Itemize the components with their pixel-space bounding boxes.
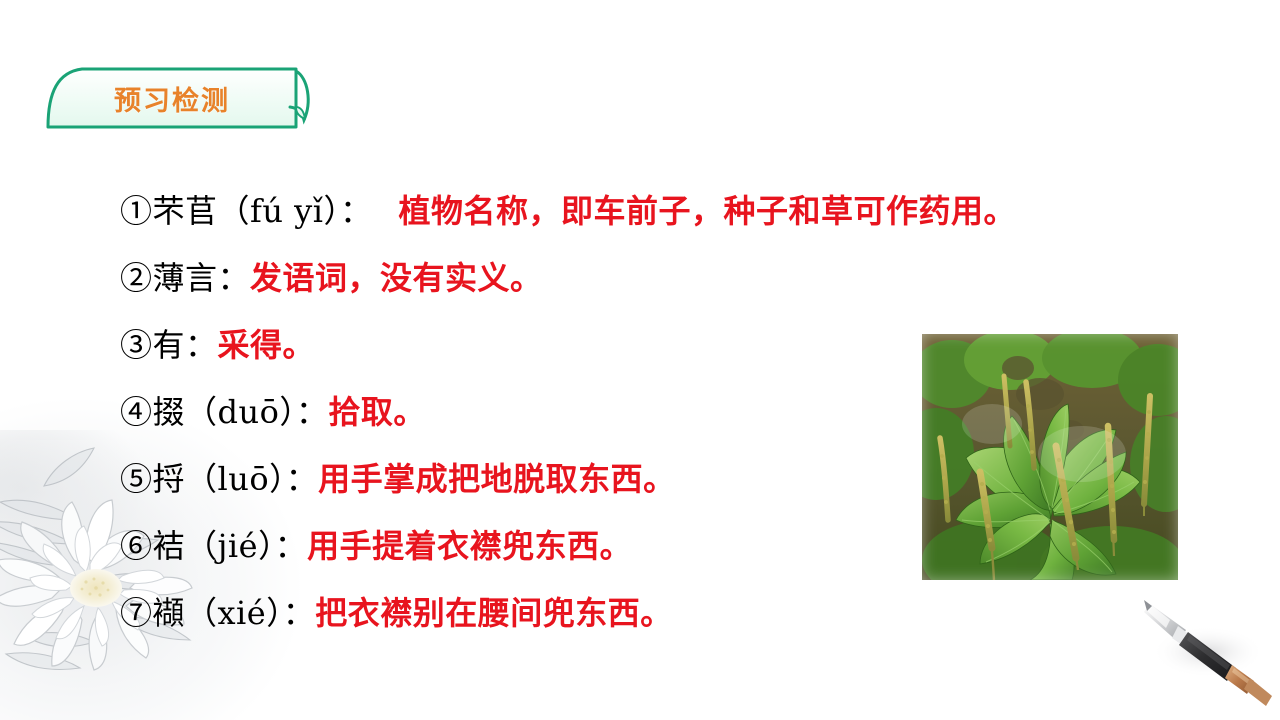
plant-photo-frame [922, 334, 1178, 580]
note-gloss-4: 拾取。 [328, 387, 426, 433]
note-gloss-5: 用手掌成把地脱取东西。 [318, 454, 676, 500]
section-title-text: 预习检测 [46, 66, 298, 130]
note-item-1: ①芣苢（fú yǐ）： 植物名称，即车前子，种子和草可作药用。 [120, 186, 1130, 253]
slide-canvas: 预习检测 ①芣苢（fú yǐ）： 植物名称，即车前子，种子和草可作药用。 ②薄言… [0, 0, 1280, 720]
note-gloss-3: 采得。 [218, 320, 316, 366]
note-term-3: ③有： [120, 320, 218, 366]
note-item-2: ②薄言： 发语词，没有实义。 [120, 253, 1130, 320]
note-term-4: ④掇（duō）： [120, 387, 328, 433]
section-title-banner: 预习检测 [46, 66, 318, 130]
note-term-6: ⑥袺（jié）： [120, 521, 307, 567]
plantain-plant-photo [922, 334, 1178, 580]
note-term-1: ①芣苢（fú yǐ）： [120, 186, 372, 232]
note-gloss-1: 植物名称，即车前子，种子和草可作药用。 [372, 186, 1016, 232]
note-term-5: ⑤捋（luō）： [120, 454, 318, 500]
note-gloss-2: 发语词，没有实义。 [250, 253, 543, 299]
note-term-2: ②薄言： [120, 253, 250, 299]
note-item-7: ⑦襭（xié）： 把衣襟别在腰间兜东西。 [120, 588, 1130, 655]
note-gloss-6: 用手提着衣襟兜东西。 [307, 521, 632, 567]
pen-decoration [1130, 586, 1280, 706]
note-term-7: ⑦襭（xié）： [120, 588, 315, 634]
note-gloss-7: 把衣襟别在腰间兜东西。 [315, 588, 673, 634]
